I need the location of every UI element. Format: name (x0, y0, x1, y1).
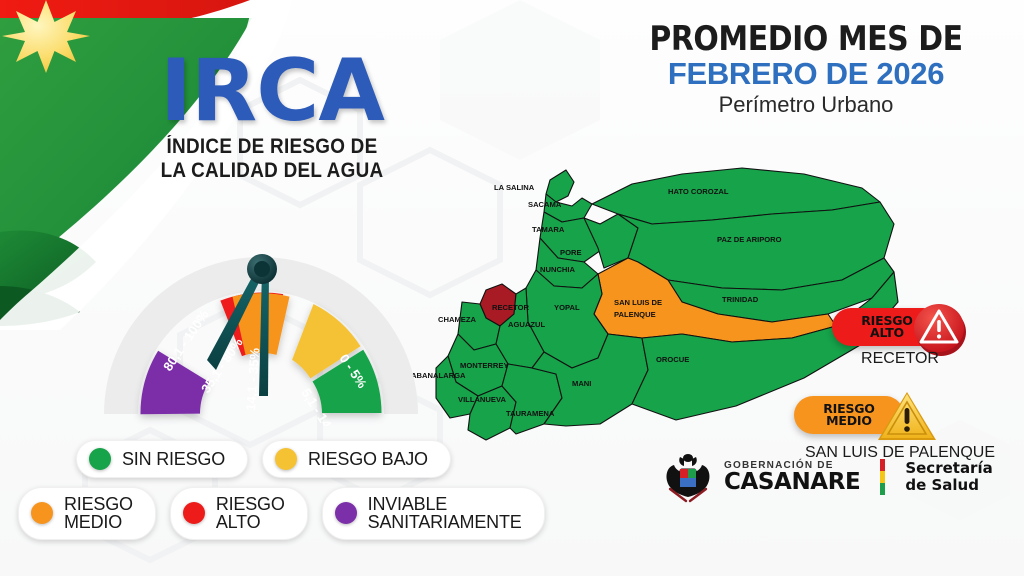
legend-label-riesgo-alto: RIESGO ALTO (216, 495, 285, 532)
legend-dot-yellow (275, 448, 297, 470)
legend-item-inviable[interactable]: INVIABLE SANITARIAMENTE (322, 487, 545, 540)
map-label-mani: MANI (572, 379, 591, 388)
warning-triangle-red-icon (908, 300, 970, 356)
alert-san-luis-de-palenque: RIESGO MEDIO SAN LUIS DE PALENQUE (780, 388, 1020, 450)
risk-legend: SIN RIESGO RIESGO BAJO RIESGO MEDIO RIES… (18, 440, 558, 549)
gobernacion-wordmark: GOBERNACIÓN DE CASANARE (724, 461, 860, 494)
gauge-hub-center (254, 261, 270, 277)
page-title: IRCA (122, 52, 422, 131)
map-label-recetor: RECETOR (492, 303, 530, 312)
report-scope: Perímetro Urbano (596, 93, 1016, 117)
warning-triangle-amber-icon (876, 388, 938, 444)
tricolor-divider (880, 459, 885, 495)
legend-row-2: RIESGO MEDIO RIESGO ALTO INVIABLE SANITA… (18, 487, 558, 540)
report-period-label: PROMEDIO MES DE (621, 22, 991, 56)
map-label-pore: PORE (560, 248, 582, 257)
map-label-sacama: SACAMA (528, 200, 562, 209)
map-label-san-luis-de: SAN LUIS DE (614, 298, 662, 307)
map-label-nunchia: NUNCHIA (540, 265, 576, 274)
irca-heading: IRCA ÍNDICE DE RIESGO DE LA CALIDAD DEL … (122, 52, 422, 182)
legend-label-riesgo-bajo: RIESGO BAJO (308, 450, 428, 468)
legend-label-sin-riesgo: SIN RIESGO (122, 450, 225, 468)
legend-row-1: SIN RIESGO RIESGO BAJO (18, 440, 558, 478)
report-month-year: FEBRERO DE 2026 (596, 58, 1016, 91)
map-label-hato-corozal: HATO COROZAL (668, 187, 729, 196)
map-label-monterrey: MONTERREY (460, 361, 509, 370)
page-subtitle: ÍNDICE DE RIESGO DE LA CALIDAD DEL AGUA (137, 135, 407, 182)
legend-item-sin-riesgo[interactable]: SIN RIESGO (76, 440, 248, 478)
legend-dot-red (183, 502, 205, 524)
alert-badge-alto-line2: ALTO (870, 327, 904, 340)
secretaria-de-salud-label: Secretaría de Salud (905, 460, 992, 494)
map-label-trinidad: TRINIDAD (722, 295, 759, 304)
map-label-la-salina: LA SALINA (494, 183, 535, 192)
alert-badge-medio-line2: MEDIO (826, 415, 872, 428)
alert-municipality-san-luis: SAN LUIS DE PALENQUE (780, 444, 1020, 462)
gob-large-label: CASANARE (724, 471, 860, 494)
legend-dot-purple (335, 502, 357, 524)
legend-dot-orange (31, 502, 53, 524)
legend-dot-green (89, 448, 111, 470)
legend-item-riesgo-bajo[interactable]: RIESGO BAJO (262, 440, 451, 478)
infographic-canvas: IRCA ÍNDICE DE RIESGO DE LA CALIDAD DEL … (0, 0, 1024, 576)
map-label-chameza: CHAMEZA (438, 315, 476, 324)
map-label-tauramena: TAURAMENA (506, 409, 555, 418)
risk-alert-panel: RIESGO ALTO RECETOR RIESGO MEDIO (780, 300, 1020, 450)
legend-item-riesgo-alto[interactable]: RIESGO ALTO (170, 487, 308, 540)
map-label-paz-de-ariporo: PAZ DE ARIPORO (717, 235, 782, 244)
alert-recetor: RIESGO ALTO RECETOR (780, 300, 1020, 362)
alert-municipality-recetor: RECETOR (780, 350, 1020, 368)
report-title-block: PROMEDIO MES DE FEBRERO DE 2026 Perímetr… (596, 22, 1016, 117)
map-label-orocue: OROCUE (656, 355, 689, 364)
map-label-palenque: PALENQUE (614, 310, 656, 319)
casanare-coat-of-arms-icon (662, 449, 714, 505)
map-label-villanueva: VILLANUEVA (458, 395, 506, 404)
subtitle-line-1: ÍNDICE DE RIESGO DE (137, 135, 407, 159)
map-label-yopal: YOPAL (554, 303, 580, 312)
map-label-tamara: TAMARA (532, 225, 565, 234)
subtitle-line-2: LA CALIDAD DEL AGUA (137, 159, 407, 183)
legend-item-riesgo-medio[interactable]: RIESGO MEDIO (18, 487, 156, 540)
map-label-aguazul: AGUAZUL (508, 320, 545, 329)
irca-risk-gauge: 80,1 - 100% 35,1 - 80% 14,1 - 35% 5,1 - … (96, 246, 426, 426)
legend-label-inviable: INVIABLE SANITARIAMENTE (368, 495, 522, 532)
legend-label-riesgo-medio: RIESGO MEDIO (64, 495, 133, 532)
